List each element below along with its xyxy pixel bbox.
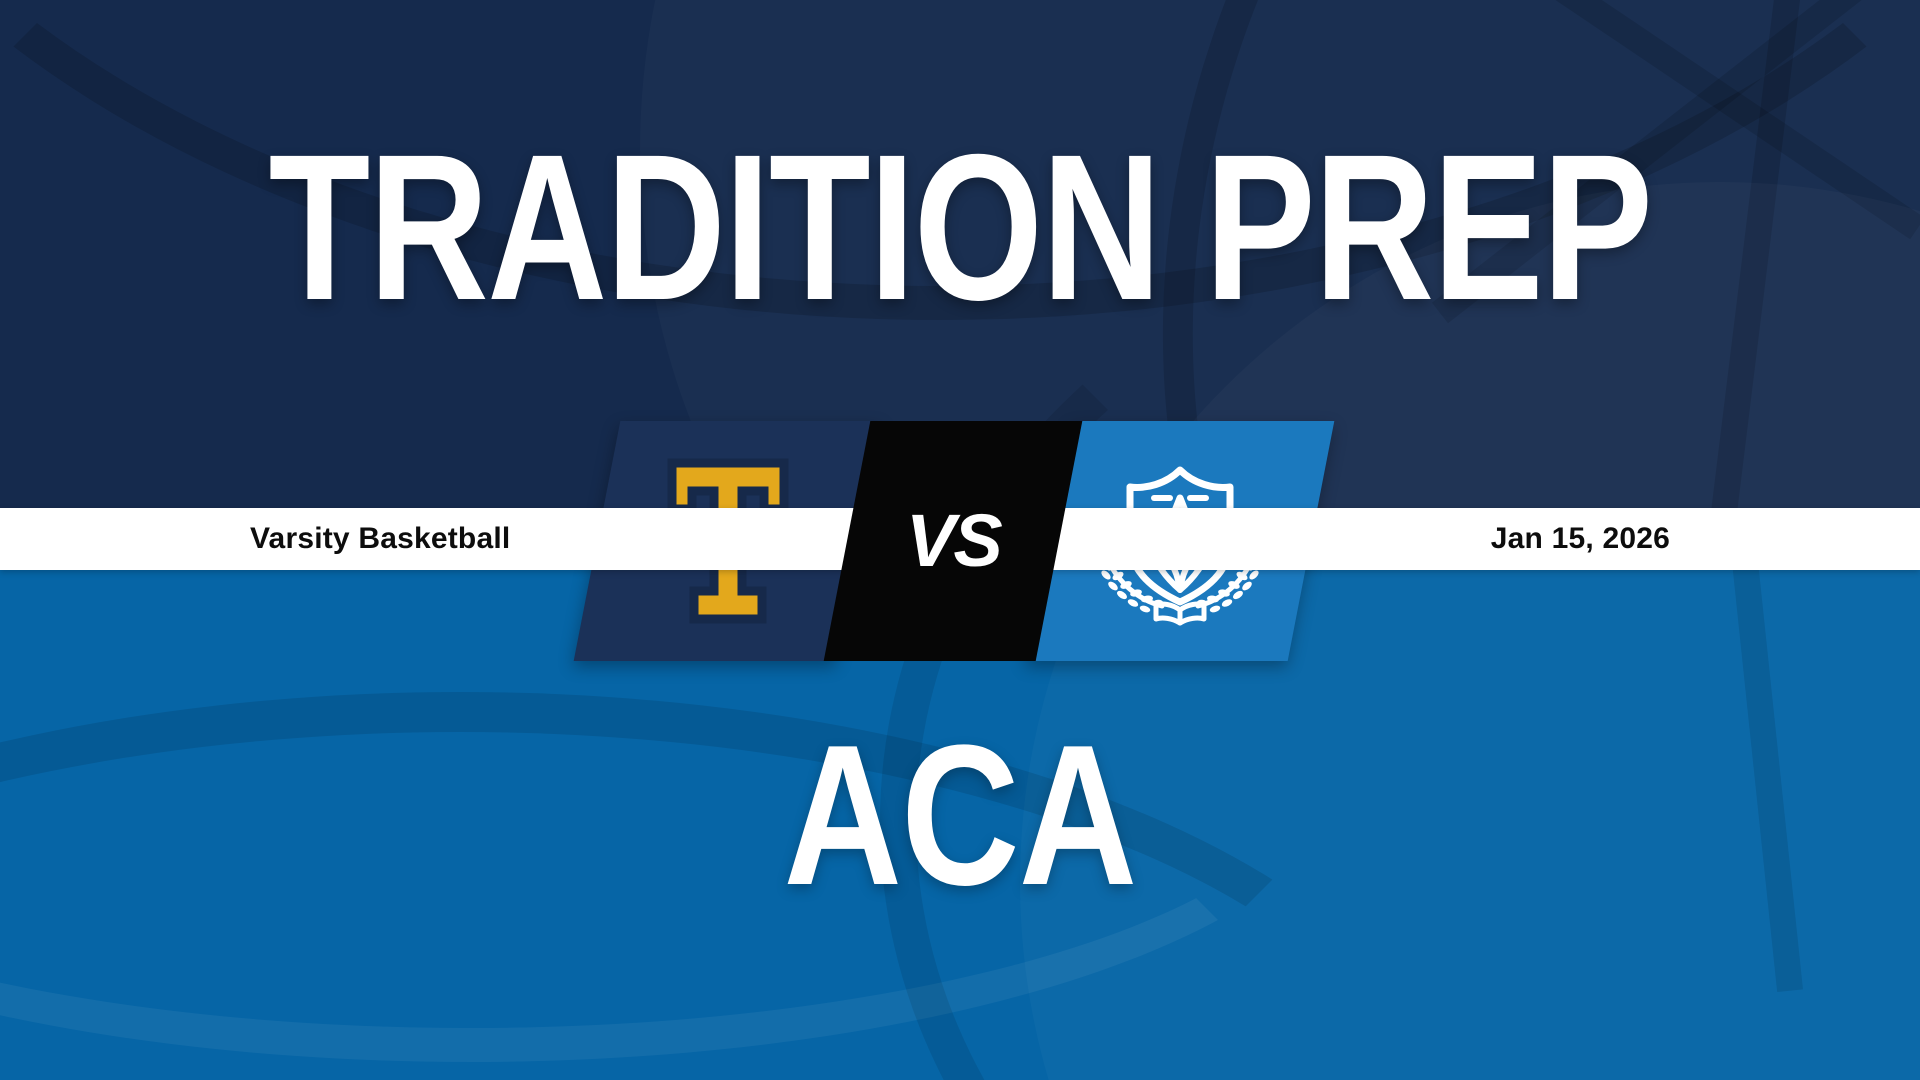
matchup-graphic: TRADITION PREP VS [0, 0, 1920, 1080]
away-team-title: ACA [173, 716, 1747, 916]
home-team-title: TRADITION PREP [192, 124, 1728, 332]
date-label: Jan 15, 2026 [1491, 508, 1670, 570]
sport-label: Varsity Basketball [250, 508, 510, 570]
versus-label: VS [906, 504, 1001, 578]
